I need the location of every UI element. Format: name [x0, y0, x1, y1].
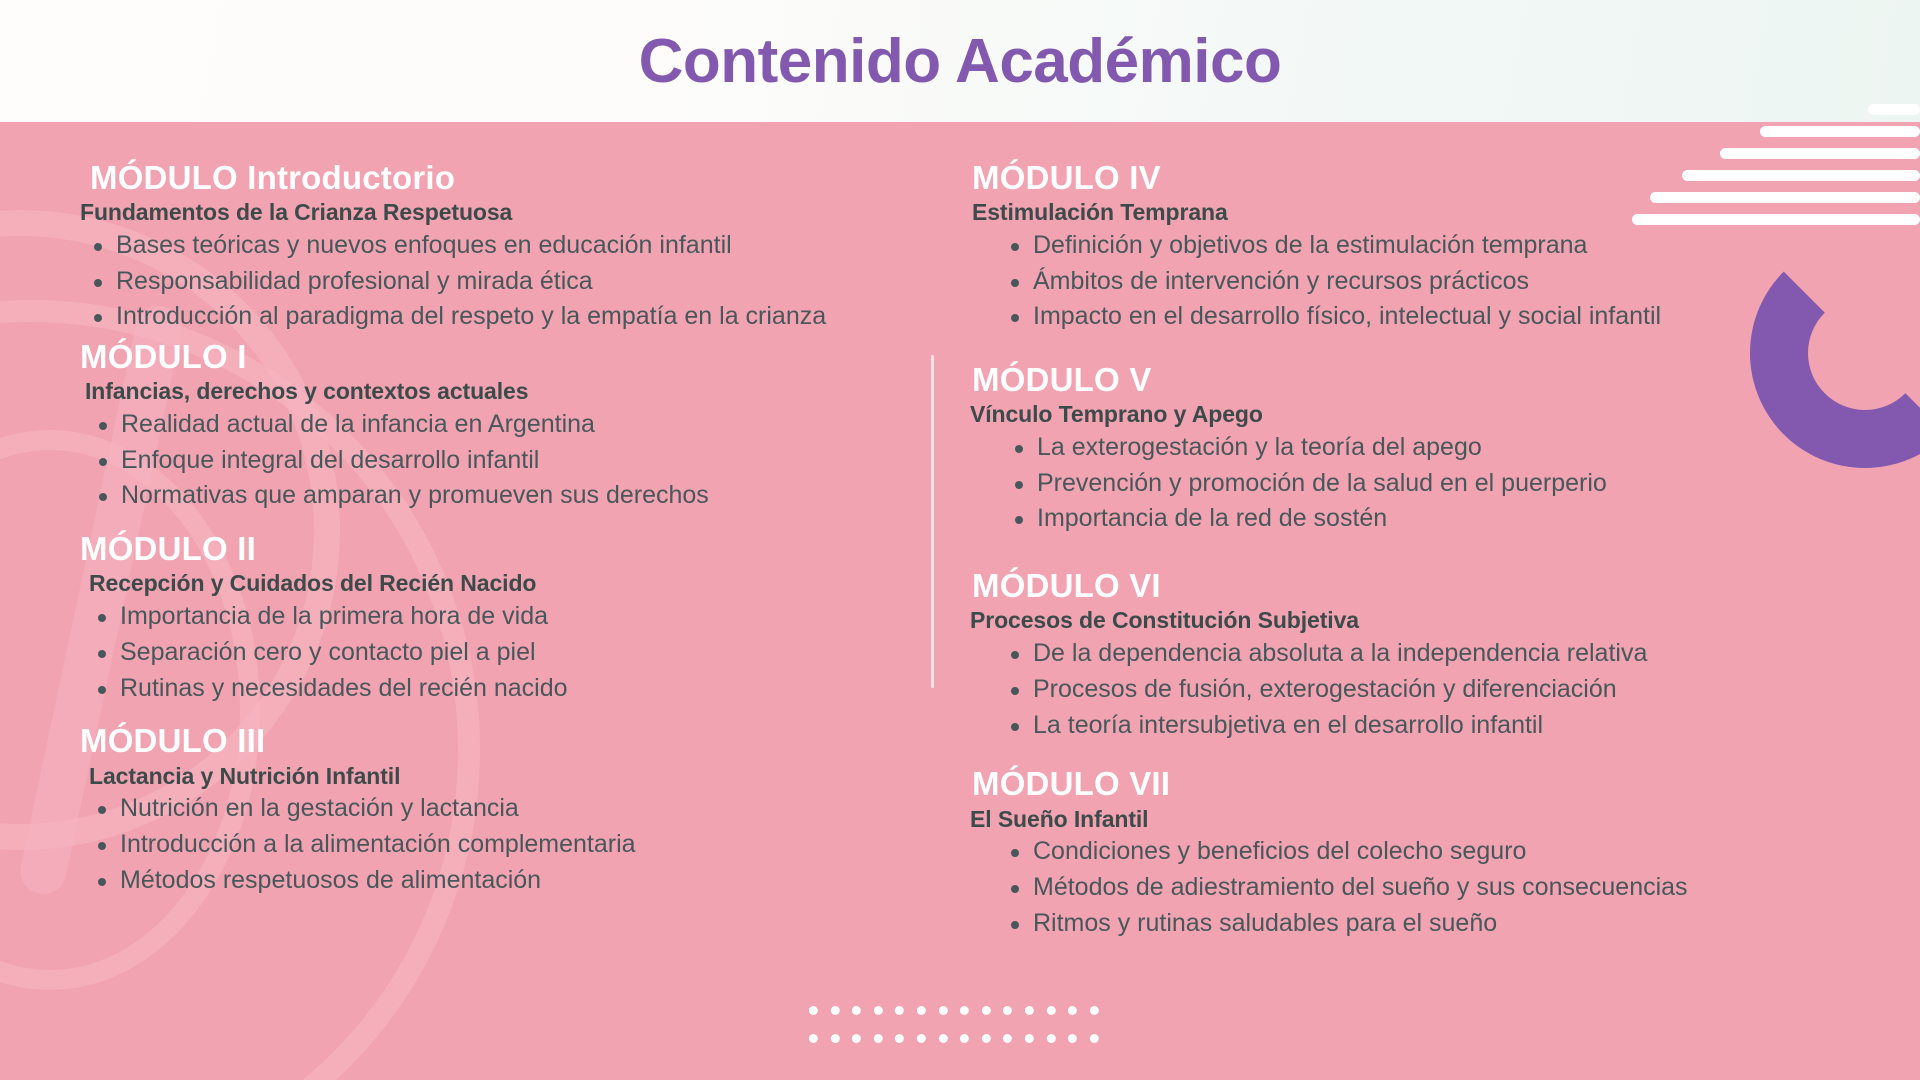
module-subtitle: El Sueño Infantil: [970, 806, 1880, 834]
module-subtitle: Infancias, derechos y contextos actuales: [80, 378, 920, 406]
module-title: MÓDULO VII: [970, 765, 1880, 803]
module-topic-item: Responsabilidad profesional y mirada éti…: [80, 267, 920, 296]
module-topic-item: Ritmos y rutinas saludables para el sueñ…: [997, 909, 1880, 938]
module-topic-item: Realidad actual de la infancia en Argent…: [85, 410, 920, 439]
module-topic-item: Procesos de fusión, exterogestación y di…: [997, 675, 1880, 704]
module-topic-item: La teoría intersubjetiva en el desarroll…: [997, 711, 1880, 740]
content-area: MÓDULO IntroductorioFundamentos de la Cr…: [0, 122, 1920, 1080]
module-topic-item: Métodos respetuosos de alimentación: [84, 866, 920, 895]
slide-root: Contenido Académico MÓDULO Introductorio…: [0, 0, 1920, 1080]
module-topic-item: Importancia de la red de sostén: [1001, 504, 1880, 533]
module-topic-list: Definición y objetivos de la estimulació…: [970, 231, 1880, 331]
module-topic-list: Realidad actual de la infancia en Argent…: [80, 410, 920, 510]
module-block: MÓDULO VIProcesos de Constitución Subjet…: [970, 567, 1880, 739]
right-column: MÓDULO IVEstimulación TempranaDefinición…: [960, 122, 1920, 1080]
module-subtitle: Fundamentos de la Crianza Respetuosa: [80, 199, 920, 227]
left-column: MÓDULO IntroductorioFundamentos de la Cr…: [0, 122, 960, 1080]
module-block: MÓDULO VIIEl Sueño InfantilCondiciones y…: [970, 765, 1880, 937]
module-block: MÓDULO IInfancias, derechos y contextos …: [80, 338, 920, 510]
module-topic-item: Introducción al paradigma del respeto y …: [80, 302, 920, 331]
module-topic-list: Nutrición en la gestación y lactanciaInt…: [80, 794, 920, 894]
module-topic-item: Enfoque integral del desarrollo infantil: [85, 446, 920, 475]
module-topic-item: Introducción a la alimentación complemen…: [84, 830, 920, 859]
module-title: MÓDULO II: [80, 530, 920, 568]
module-topic-item: Ámbitos de intervención y recursos práct…: [997, 267, 1880, 296]
module-topic-item: Nutrición en la gestación y lactancia: [84, 794, 920, 823]
module-topic-item: De la dependencia absoluta a la independ…: [997, 639, 1880, 668]
module-block: MÓDULO VVínculo Temprano y ApegoLa exter…: [970, 361, 1880, 533]
module-topic-item: Condiciones y beneficios del colecho seg…: [997, 837, 1880, 866]
module-topic-item: Normativas que amparan y promueven sus d…: [85, 481, 920, 510]
module-subtitle: Lactancia y Nutrición Infantil: [80, 763, 920, 791]
module-block: MÓDULO IIILactancia y Nutrición Infantil…: [80, 722, 920, 894]
module-topic-item: Métodos de adiestramiento del sueño y su…: [997, 873, 1880, 902]
module-title: MÓDULO IV: [970, 159, 1880, 197]
module-title: MÓDULO V: [970, 361, 1880, 399]
module-block: MÓDULO IntroductorioFundamentos de la Cr…: [80, 159, 920, 331]
module-title: MÓDULO III: [80, 722, 920, 760]
module-topic-list: La exterogestación y la teoría del apego…: [970, 433, 1880, 533]
module-subtitle: Procesos de Constitución Subjetiva: [970, 607, 1880, 635]
module-topic-item: Prevención y promoción de la salud en el…: [1001, 469, 1880, 498]
module-topic-list: Condiciones y beneficios del colecho seg…: [970, 837, 1880, 937]
module-topic-list: Importancia de la primera hora de vidaSe…: [80, 602, 920, 702]
module-title: MÓDULO Introductorio: [80, 159, 920, 197]
module-subtitle: Recepción y Cuidados del Recién Nacido: [80, 570, 920, 598]
module-subtitle: Vínculo Temprano y Apego: [970, 401, 1880, 429]
module-topic-item: Impacto en el desarrollo físico, intelec…: [997, 302, 1880, 331]
module-topic-item: Separación cero y contacto piel a piel: [84, 638, 920, 667]
page-title: Contenido Académico: [0, 0, 1920, 122]
module-subtitle: Estimulación Temprana: [970, 199, 1880, 227]
module-topic-list: Bases teóricas y nuevos enfoques en educ…: [80, 231, 920, 331]
module-topic-item: Bases teóricas y nuevos enfoques en educ…: [80, 231, 920, 260]
module-topic-item: Rutinas y necesidades del recién nacido: [84, 674, 920, 703]
module-topic-item: Importancia de la primera hora de vida: [84, 602, 920, 631]
module-topic-list: De la dependencia absoluta a la independ…: [970, 639, 1880, 739]
module-title: MÓDULO I: [80, 338, 920, 376]
module-title: MÓDULO VI: [970, 567, 1880, 605]
module-topic-item: La exterogestación y la teoría del apego: [1001, 433, 1880, 462]
module-block: MÓDULO IVEstimulación TempranaDefinición…: [970, 159, 1880, 331]
module-block: MÓDULO IIRecepción y Cuidados del Recién…: [80, 530, 920, 702]
module-topic-item: Definición y objetivos de la estimulació…: [997, 231, 1880, 260]
